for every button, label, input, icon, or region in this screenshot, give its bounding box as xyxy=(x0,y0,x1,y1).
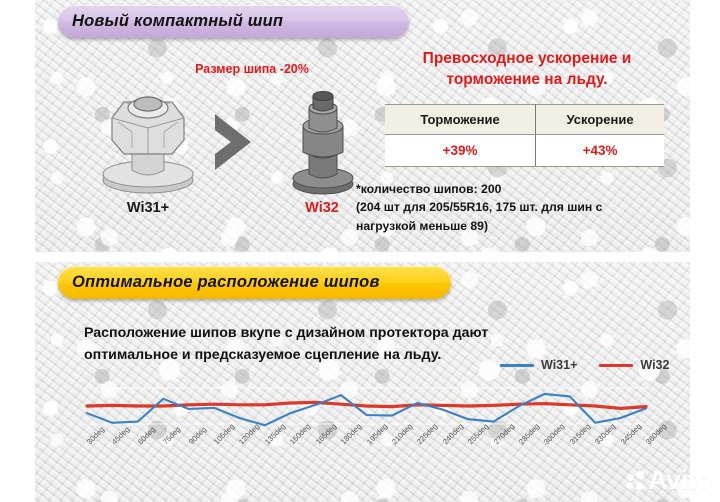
table-value-braking: +39% xyxy=(385,135,536,167)
bottom-panel-title-pill: Оптимальное расположение шипов xyxy=(58,266,451,299)
avito-dots-icon xyxy=(626,471,646,491)
table-header-acceleration: Ускорение xyxy=(536,105,664,135)
table-value-acceleration: +43% xyxy=(536,135,664,167)
avito-watermark: Avito xyxy=(626,465,712,496)
table-header-row: Торможение Ускорение xyxy=(385,105,664,135)
chart-x-axis: 30deg45deg60deg75deg90deg105deg120deg135… xyxy=(84,440,664,496)
top-panel-title-pill: Новый компактный шип xyxy=(58,5,409,38)
table-header-braking: Торможение xyxy=(385,105,536,135)
old-stud-label: Wi31+ xyxy=(78,200,218,216)
performance-table: Торможение Ускорение +39% +43% xyxy=(385,104,664,167)
stud-size-label: Размер шипа -20% xyxy=(152,62,352,76)
legend-label-wi31: Wi31+ xyxy=(541,358,577,372)
footnote-line: *количество шипов: 200 xyxy=(356,180,676,198)
bottom-headline: Расположение шипов вкупе с дизайном прот… xyxy=(84,322,554,366)
legend-swatch-wi32 xyxy=(599,364,633,367)
chart-series-wi32 xyxy=(87,402,646,408)
bottom-panel-title: Оптимальное расположение шипов xyxy=(72,273,380,292)
arrow-right-icon xyxy=(207,110,267,174)
top-headline-text: Превосходное ускорение и торможение на л… xyxy=(423,50,632,88)
bottom-headline-line: Расположение шипов вкупе с дизайном прот… xyxy=(84,322,554,344)
new-stud-illustration xyxy=(285,90,361,196)
avito-watermark-text: Avito xyxy=(648,465,712,496)
chart-legend: Wi31+ Wi32 xyxy=(500,358,669,372)
slide-canvas: Новый компактный шип Размер шипа -20% Wi… xyxy=(0,0,720,502)
bottom-headline-line: оптимальное и предсказуемое сцепление на… xyxy=(84,344,554,366)
old-stud-illustration xyxy=(88,88,208,196)
legend-swatch-wi31 xyxy=(500,364,534,367)
footnote-line: нагрузкой меньше 89) xyxy=(356,217,676,235)
chart-series-wi31 xyxy=(87,394,646,425)
top-panel-title: Новый компактный шип xyxy=(72,12,283,31)
legend-label-wi32: Wi32 xyxy=(640,358,669,372)
footnote-line: (204 шт для 205/55R16, 175 шт. для шин с xyxy=(356,198,676,216)
top-headline: Превосходное ускорение и торможение на л… xyxy=(382,48,672,91)
table-row: +39% +43% xyxy=(385,135,664,167)
stud-count-footnote: *количество шипов: 200 (204 шт для 205/5… xyxy=(356,180,676,235)
